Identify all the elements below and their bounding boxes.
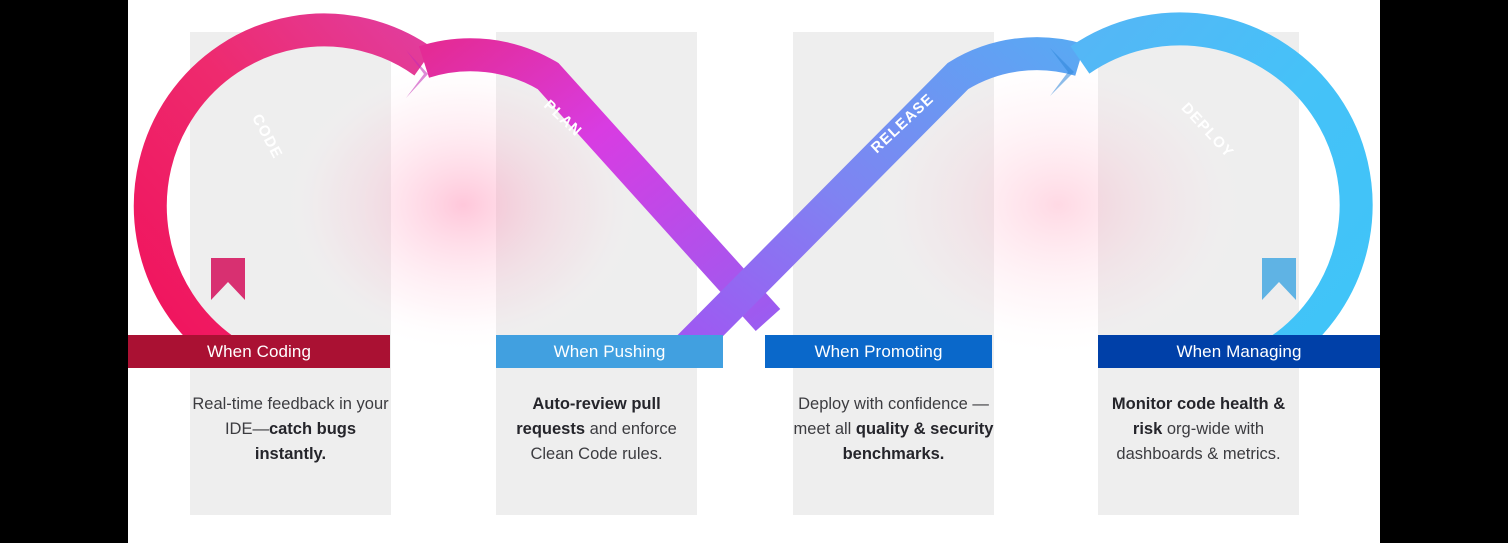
chevron-deploy-down-icon	[1262, 258, 1296, 300]
column-text-promoting: Deploy with confidence —meet all quality…	[793, 392, 994, 467]
diagram-canvas: CODE PLAN RELEASE DEPLOY When Coding Whe…	[128, 0, 1380, 543]
bar-label-managing: When Managing	[1176, 343, 1301, 360]
bar-when-coding[interactable]: When Coding	[128, 335, 390, 368]
chevron-code-down-icon	[211, 258, 245, 300]
column-text-coding: Real-time feedback in your IDE—catch bug…	[190, 392, 391, 467]
bar-label-promoting: When Promoting	[814, 343, 942, 360]
bar-when-managing[interactable]: When Managing	[1098, 335, 1380, 368]
column-text-pushing: Auto-review pull requests and enforce Cl…	[496, 392, 697, 467]
bar-label-pushing: When Pushing	[554, 343, 666, 360]
bar-when-pushing[interactable]: When Pushing	[496, 335, 723, 368]
screenshot-root: CODE PLAN RELEASE DEPLOY When Coding Whe…	[0, 0, 1508, 543]
bar-when-promoting[interactable]: When Promoting	[765, 335, 992, 368]
left-loop-glow	[278, 55, 648, 355]
bar-label-coding: When Coding	[207, 343, 311, 360]
column-text-managing: Monitor code health & risk org-wide with…	[1098, 392, 1299, 467]
